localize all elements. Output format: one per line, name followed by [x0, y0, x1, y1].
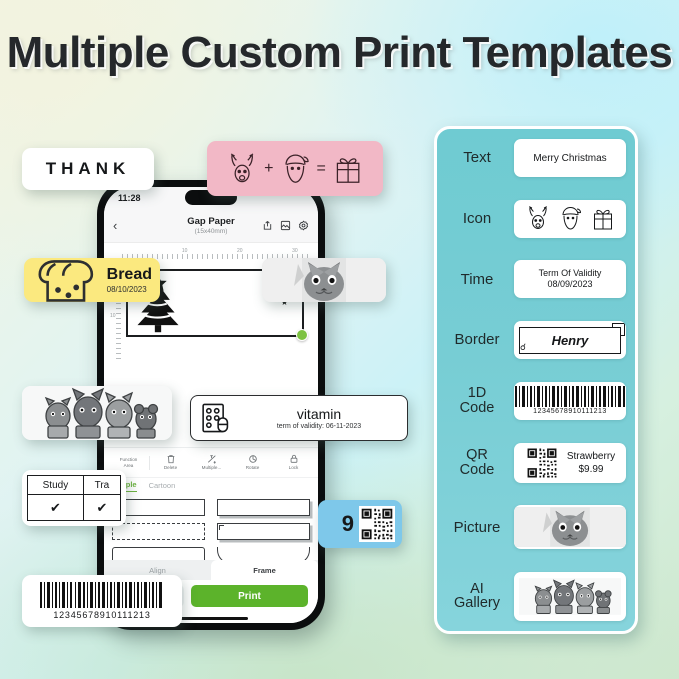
frame-option-curve[interactable]: [217, 545, 310, 560]
panel-sample-picture[interactable]: [514, 505, 626, 549]
panel-sample-text[interactable]: Merry Christmas: [514, 139, 626, 177]
panel-row-border[interactable]: Border Henry ☌: [446, 321, 626, 359]
checklist-mark-2: ✔: [83, 495, 120, 521]
qr-product-price: $9.99: [567, 463, 615, 476]
tab-frame[interactable]: Frame: [211, 560, 318, 580]
page-title: Multiple Custom Print Templates: [0, 28, 679, 78]
panel-row-qr-code[interactable]: QR Code Strawberry: [446, 443, 626, 483]
label-line-2: Code: [446, 401, 508, 416]
tool-label: Multiple...: [202, 465, 222, 470]
vitamin-title: vitamin: [241, 406, 397, 422]
panel-sample-qr[interactable]: Strawberry $9.99: [514, 443, 626, 483]
cat-photo: [262, 258, 386, 302]
checklist-table: Study Tra ✔ ✔: [27, 475, 121, 521]
tool-delete[interactable]: Delete: [150, 454, 191, 470]
bread-title: Bread: [107, 267, 152, 283]
sample-christmas-formula[interactable]: + =: [207, 141, 383, 196]
image-icon[interactable]: [280, 220, 291, 231]
panel-row-ai-gallery[interactable]: AI Gallery: [446, 572, 626, 621]
label-line-1: AI: [446, 582, 508, 597]
bread-icon: [32, 251, 100, 308]
qr-code-icon: [525, 446, 559, 480]
label-line-1: QR: [446, 448, 508, 463]
template-types-panel: Text Merry Christmas Icon: [434, 126, 638, 634]
sample-bread-label[interactable]: Bread 08/10/2023: [24, 258, 160, 302]
print-button[interactable]: Print: [191, 585, 308, 607]
lock-icon: [289, 454, 299, 464]
cartoon-animals-photo: [519, 575, 621, 618]
border-sample: Henry ☌: [519, 327, 621, 354]
icon-set: [526, 205, 615, 232]
qr-text-block: Strawberry $9.99: [567, 450, 615, 476]
rotate-icon: [248, 454, 258, 464]
resize-handle[interactable]: [296, 329, 308, 341]
tool-label: Delete: [164, 465, 177, 470]
bread-text-block: Bread 08/10/2023: [107, 267, 152, 294]
header-icons: [262, 220, 309, 231]
tool-lock[interactable]: Lock: [273, 454, 314, 470]
app-header: ‹ Gap Paper (15x40mm): [104, 209, 318, 243]
tool-multiple[interactable]: Multiple...: [191, 454, 232, 470]
cat-photo: [514, 505, 626, 549]
panel-row-1d-code[interactable]: 1D Code: [446, 382, 626, 420]
vitamin-validity: term of validity: 06-11-2023: [241, 423, 397, 430]
table-row: ✔ ✔: [28, 495, 121, 521]
panel-label-text: Text: [446, 150, 508, 165]
gift-icon: [591, 205, 615, 232]
label-line-2: Code: [446, 463, 508, 478]
tool-label: Rotate: [246, 465, 260, 470]
plus-sign: +: [264, 160, 273, 178]
qr-code-icon: [359, 506, 395, 542]
tool-label-2: Area: [124, 463, 134, 468]
label-line-1: 1D: [446, 386, 508, 401]
panel-sample-icons[interactable]: [514, 200, 626, 238]
sample-qr-blue-label[interactable]: 9: [318, 500, 402, 548]
santa-icon: [559, 205, 582, 232]
multiple-icon: [207, 454, 217, 464]
checklist-header-study: Study: [28, 476, 84, 495]
label-line-2: Gallery: [446, 596, 508, 611]
barcode-icon: [39, 582, 165, 608]
bread-date: 08/10/2023: [107, 285, 152, 294]
frame-option-shadow[interactable]: [217, 497, 310, 518]
frame-options-grid: [104, 494, 318, 560]
tool-label: Lock: [289, 465, 299, 470]
gift-icon: [333, 152, 363, 186]
tool-label: Function: [120, 457, 138, 462]
panel-row-text[interactable]: Text Merry Christmas: [446, 139, 626, 177]
thank-text: THANK: [46, 159, 131, 179]
qr-block: Strawberry $9.99: [525, 446, 615, 480]
panel-label-time: Time: [446, 272, 508, 287]
table-row: Study Tra: [28, 476, 121, 495]
frame-option-dashed[interactable]: [112, 521, 205, 542]
sample-thank-label[interactable]: THANK: [22, 148, 154, 190]
time-sample-block: Term Of Validity 08/09/2023: [539, 268, 602, 291]
frame-option-tab[interactable]: [112, 545, 205, 560]
panel-label-ai-gallery: AI Gallery: [446, 582, 508, 612]
panel-sample-ai-gallery[interactable]: [514, 572, 626, 621]
sample-vitamin-label[interactable]: vitamin term of validity: 06-11-2023: [190, 395, 408, 441]
panel-sample-barcode[interactable]: 12345678910111213: [514, 382, 626, 420]
panel-label-icon: Icon: [446, 211, 508, 226]
tab-cartoon[interactable]: Cartoon: [149, 481, 176, 492]
sample-checklist-label[interactable]: Study Tra ✔ ✔: [22, 470, 126, 526]
cartoon-animals-photo: [22, 386, 172, 440]
merry-christmas-text: Merry Christmas: [533, 153, 606, 164]
frame-style-tabs: Simple Cartoon: [104, 477, 318, 494]
barcode-digits: 12345678910111213: [533, 408, 607, 415]
sample-ai-animals[interactable]: [22, 386, 172, 440]
reindeer-icon: [526, 205, 550, 232]
tool-function-area[interactable]: Function Area: [108, 457, 149, 468]
vitamin-text-block: vitamin term of validity: 06-11-2023: [241, 406, 397, 430]
panel-sample-time[interactable]: Term Of Validity 08/09/2023: [514, 260, 626, 298]
back-chevron-icon[interactable]: ‹: [113, 218, 127, 233]
trash-icon: [166, 454, 176, 464]
frame-option-corner[interactable]: [217, 521, 310, 542]
panel-label-qr-code: QR Code: [446, 448, 508, 478]
reindeer-icon: [227, 152, 257, 186]
time-line-1: Term Of Validity: [539, 268, 602, 279]
sample-cat-photo[interactable]: [262, 258, 386, 302]
checklist-mark-1: ✔: [28, 495, 84, 521]
settings-gear-icon[interactable]: [298, 220, 309, 231]
barcode-digits: 12345678910111213: [53, 610, 150, 620]
qr-number: 9: [342, 511, 354, 537]
qr-product-name: Strawberry: [567, 450, 615, 463]
border-key-icon: ☌: [520, 342, 526, 353]
barcode-icon: [514, 386, 626, 407]
sample-barcode-label[interactable]: 12345678910111213: [22, 575, 182, 627]
panel-label-border: Border: [446, 332, 508, 347]
ruler-v-tick-10: 10: [110, 313, 116, 319]
barcode-block: 12345678910111213: [514, 386, 626, 415]
border-name-text: Henry: [519, 327, 621, 354]
panel-label-picture: Picture: [446, 520, 508, 535]
time-line-2: 08/09/2023: [539, 279, 602, 290]
pill-blister-icon: [201, 402, 231, 434]
share-icon[interactable]: [262, 220, 273, 231]
checklist-header-tra: Tra: [83, 476, 120, 495]
santa-icon: [281, 152, 310, 186]
panel-row-icon[interactable]: Icon: [446, 200, 626, 238]
panel-sample-border[interactable]: Henry ☌: [514, 321, 626, 359]
status-time: 11:28: [118, 193, 141, 203]
tool-rotate[interactable]: Rotate: [232, 454, 273, 470]
panel-row-time[interactable]: Time Term Of Validity 08/09/2023: [446, 260, 626, 298]
function-toolbar: Function Area Delete Multiple... Rotate …: [104, 447, 318, 477]
equals-sign: =: [316, 160, 325, 178]
panel-row-picture[interactable]: Picture: [446, 505, 626, 549]
panel-label-1d-code: 1D Code: [446, 386, 508, 416]
